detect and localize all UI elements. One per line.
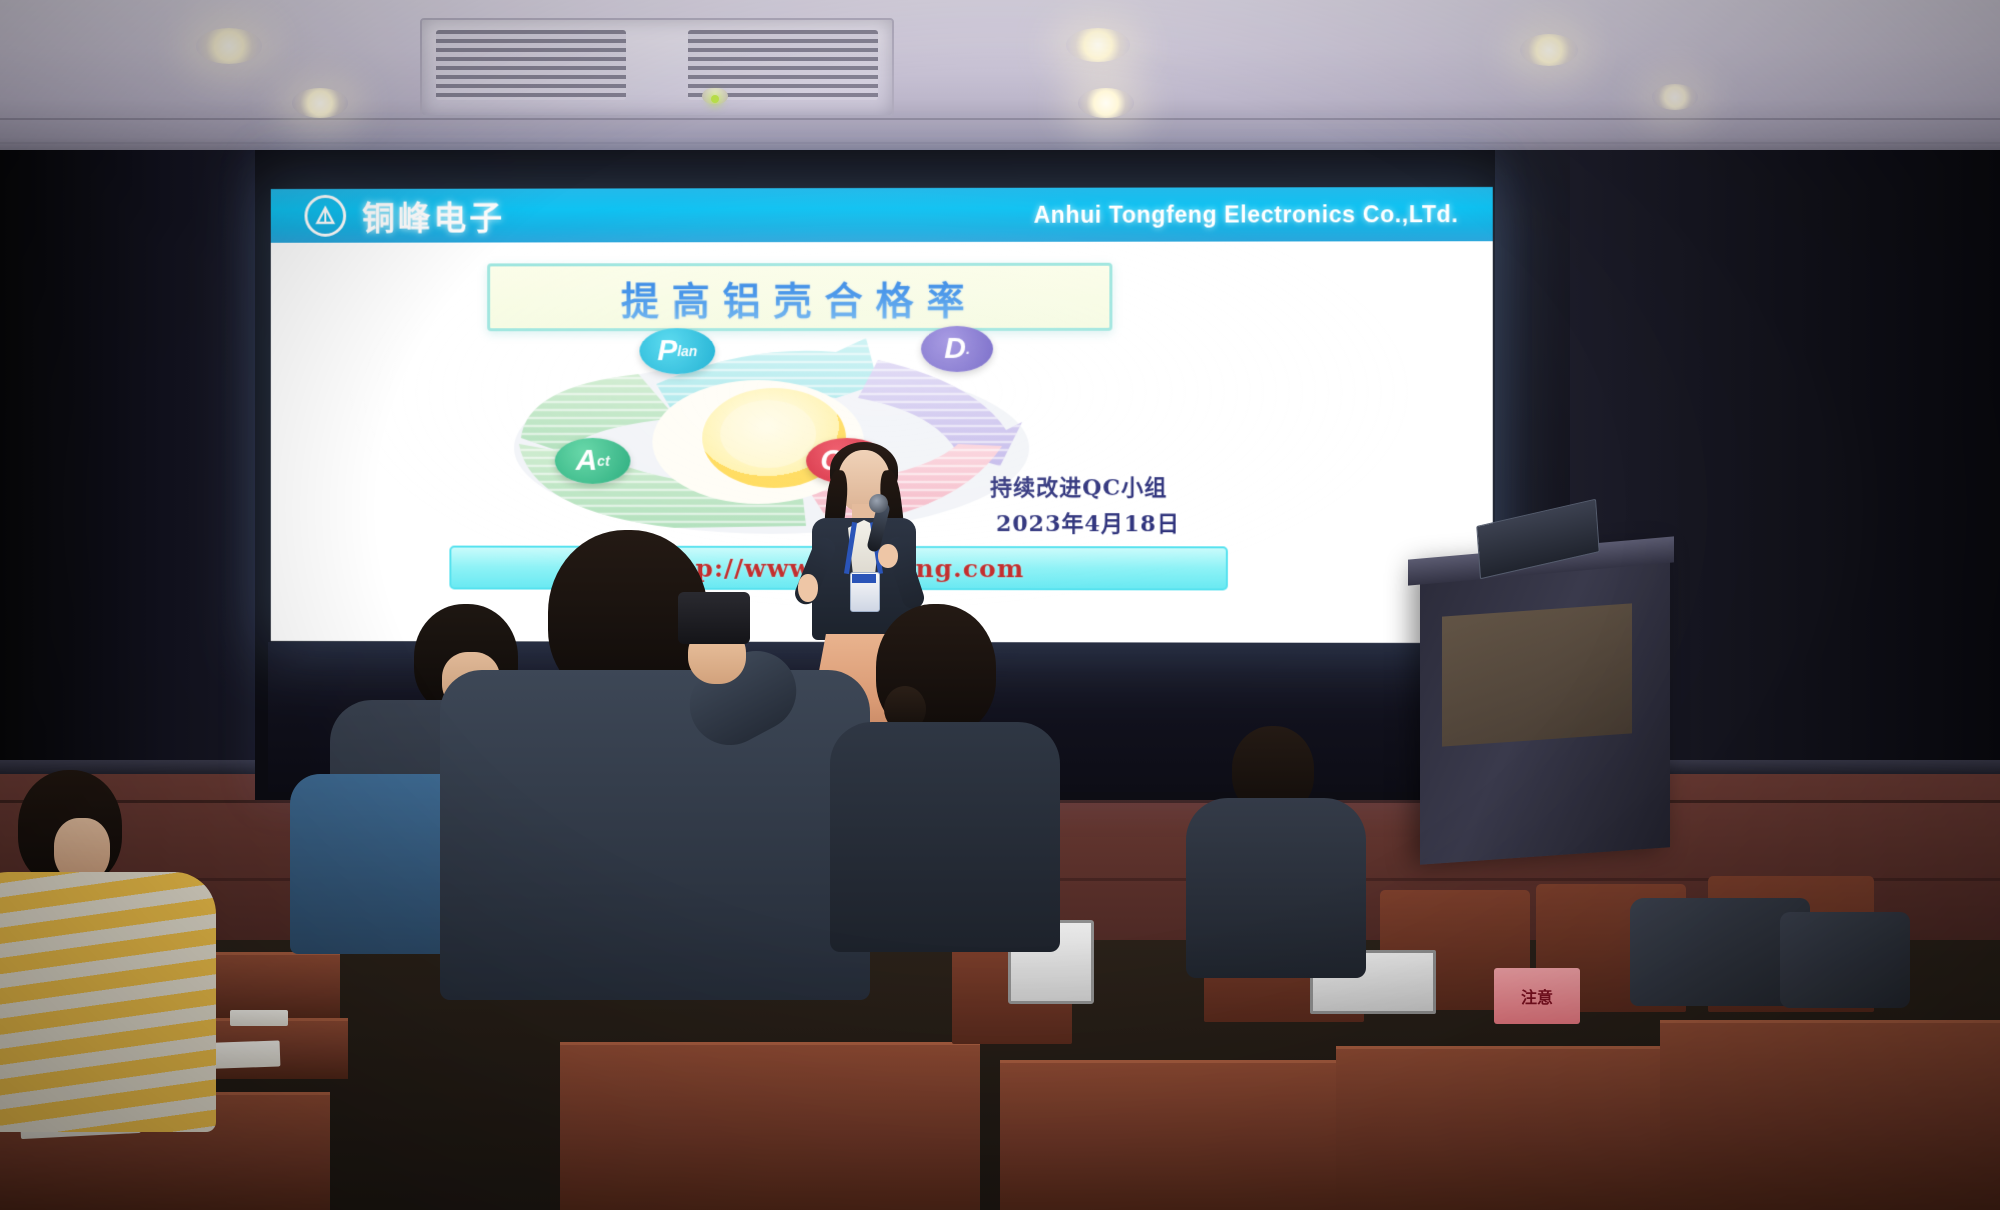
ceiling-seam <box>0 118 2000 120</box>
slide-date: 2023年4月18日 <box>996 506 1180 538</box>
pdca-plan-key: P <box>657 336 677 366</box>
ceiling-downlight <box>1652 84 1698 110</box>
pdca-act-key: A <box>576 446 598 476</box>
screenshot-root: 铜峰电子 Anhui Tongfeng Electronics Co.,LTd.… <box>0 0 2000 1210</box>
brand-name-cn: 铜峰电子 <box>362 192 505 240</box>
desk-row <box>560 1042 980 1210</box>
slide-banner: 铜峰电子 Anhui Tongfeng Electronics Co.,LTd. <box>271 187 1493 243</box>
audience-body <box>0 872 216 1132</box>
audience-body <box>440 670 870 1000</box>
audience-body <box>1186 798 1366 978</box>
ceiling-downlight <box>1066 28 1130 62</box>
ceiling-downlight <box>1078 88 1134 118</box>
ac-vent-icon <box>436 30 626 100</box>
notice-card: 注意 <box>1494 968 1580 1024</box>
ceiling-downlight <box>1520 34 1578 66</box>
smoke-detector-led-icon <box>711 95 719 103</box>
desk-row <box>1336 1046 1696 1210</box>
ceiling-seam <box>0 142 2000 144</box>
desk-row <box>1000 1060 1360 1210</box>
ceiling-downlight <box>196 28 262 64</box>
slide-title-box: 提高铝壳合格率 <box>487 263 1112 332</box>
pdca-plan-word: lan <box>677 343 697 359</box>
audience-body <box>830 722 1060 952</box>
pdca-act-word: ct <box>597 453 609 469</box>
audience-member-striped-sweater <box>0 770 250 1120</box>
microphone-head-icon <box>869 494 888 513</box>
podium-front-panel <box>1442 603 1632 746</box>
ceiling <box>0 0 2000 160</box>
backpack <box>1780 912 1910 1008</box>
camera-phone <box>678 592 750 644</box>
tongfeng-circle-logo-icon <box>305 195 347 237</box>
audience-member-back-row <box>1180 726 1380 966</box>
pdca-do-word: . <box>966 341 970 357</box>
pdca-wheel-graphic: Plan D. Check Act <box>507 326 1036 536</box>
pdca-bubble-act: Act <box>555 438 631 484</box>
brand-name-en: Anhui Tongfeng Electronics Co.,LTd. <box>1034 201 1459 229</box>
slide-title: 提高铝壳合格率 <box>621 269 978 324</box>
ceiling-ac-unit <box>420 18 894 117</box>
pdca-bubble-plan: Plan <box>639 328 715 374</box>
pdca-bubble-do: D. <box>921 326 993 372</box>
ceiling-downlight <box>292 88 348 118</box>
desk-row <box>1660 1020 2000 1210</box>
pdca-do-key: D <box>944 334 966 364</box>
slide-team-name: 持续改进QC小组 <box>990 470 1167 502</box>
audience-member-ponytail <box>840 604 1070 934</box>
